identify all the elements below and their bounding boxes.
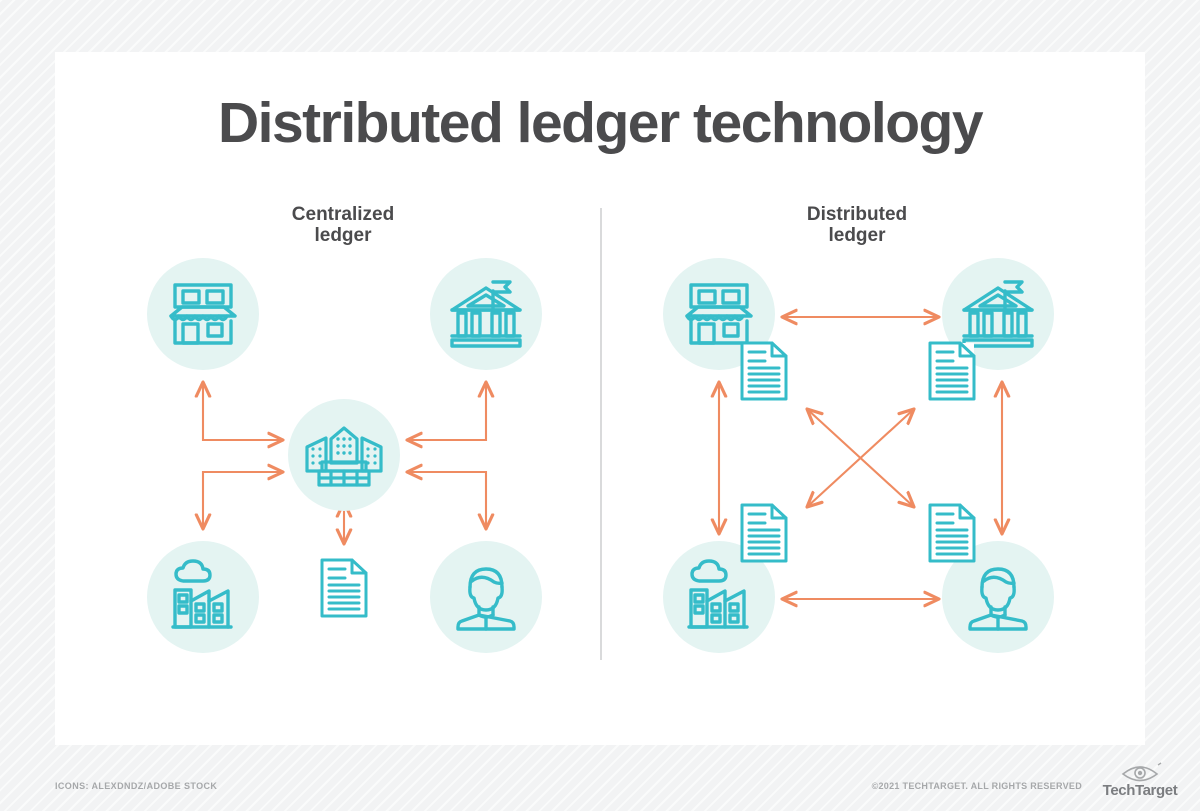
- distributed-ledger-document-individual[interactable]: [927, 502, 977, 564]
- document-icon: [927, 502, 977, 564]
- central-ledger-document[interactable]: [319, 557, 369, 619]
- office-buildings-icon: [288, 399, 400, 511]
- copyright-notice: ©2021 TECHTARGET. ALL RIGHTS RESERVED: [872, 781, 1082, 791]
- panel-label-centralized-line1: Centralized: [292, 204, 394, 225]
- arrow-factory-hub: [203, 472, 283, 529]
- bank-building-icon: [430, 258, 542, 370]
- distributed-ledger-document-store[interactable]: [739, 340, 789, 402]
- document-icon: [739, 340, 789, 402]
- distributed-ledger-document-factory[interactable]: [739, 502, 789, 564]
- panel-label-centralized-line2: ledger: [314, 225, 371, 246]
- arrow-bank-hub: [407, 382, 486, 440]
- infographic-card: Distributed ledger technology Centralize…: [55, 52, 1145, 745]
- factory-icon: [147, 541, 259, 653]
- panel-label-distributed-line2: ledger: [828, 225, 885, 246]
- centralized-node-factory[interactable]: [147, 541, 259, 653]
- panel-divider: [600, 208, 602, 660]
- arrow-bank-factory: [807, 409, 914, 507]
- storefront-icon: [147, 258, 259, 370]
- techtarget-logo-text: TechTarget: [1090, 782, 1190, 799]
- arrow-store-hub: [203, 382, 283, 440]
- icon-credit: ICONS: ALEXDNDZ/ADOBE STOCK: [55, 781, 217, 791]
- centralized-node-bank[interactable]: [430, 258, 542, 370]
- document-icon: [319, 557, 369, 619]
- centralized-node-retail-store[interactable]: [147, 258, 259, 370]
- page-title: Distributed ledger technology: [55, 90, 1145, 156]
- distributed-ledger-document-bank[interactable]: [927, 340, 977, 402]
- techtarget-logo: TechTarget: [1090, 762, 1190, 802]
- arrow-person-hub: [407, 472, 486, 529]
- document-icon: [739, 502, 789, 564]
- eye-icon: [1090, 762, 1190, 784]
- centralized-hub-central-authority[interactable]: [288, 399, 400, 511]
- panel-label-centralized: Centralized ledger: [223, 204, 463, 246]
- person-icon: [430, 541, 542, 653]
- panel-label-distributed-line1: Distributed: [807, 204, 907, 225]
- centralized-node-individual[interactable]: [430, 541, 542, 653]
- panel-label-distributed: Distributed ledger: [737, 204, 977, 246]
- document-icon: [927, 340, 977, 402]
- arrow-store-person: [807, 409, 914, 507]
